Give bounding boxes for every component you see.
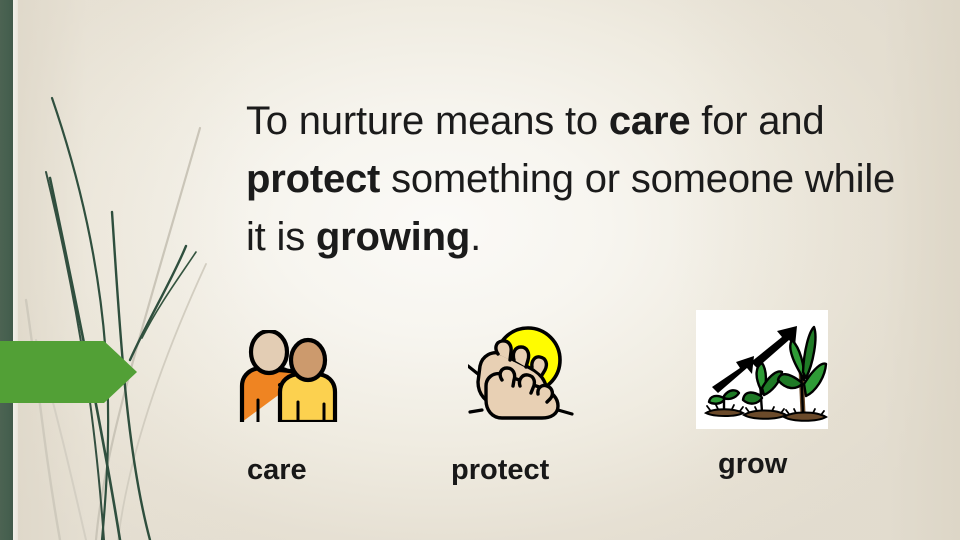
headline-seg-1-bold: care	[609, 99, 691, 143]
headline-seg-5-bold: growing	[316, 215, 470, 259]
green-arrow-banner	[0, 341, 137, 403]
icon-label-care: care	[247, 456, 307, 485]
left-accent-bar	[0, 0, 13, 540]
headline-seg-6: .	[470, 215, 481, 259]
hands-cradling-sun-icon	[468, 318, 578, 422]
headline-seg-3-bold: protect	[246, 157, 380, 201]
slide-canvas: To nurture means to care for and protect…	[0, 0, 960, 540]
headline-seg-2: for and	[690, 99, 824, 143]
grow-icon-card	[696, 310, 828, 429]
two-people-arm-around-shoulder-icon	[236, 330, 344, 422]
icon-label-grow: grow	[718, 450, 787, 479]
icon-label-protect: protect	[451, 456, 549, 485]
headline-text: To nurture means to care for and protect…	[246, 92, 896, 266]
plant-growth-stages-arrows-icon	[696, 310, 828, 429]
headline-seg-0: To nurture means to	[246, 99, 609, 143]
left-accent-bar-highlight	[13, 0, 18, 540]
